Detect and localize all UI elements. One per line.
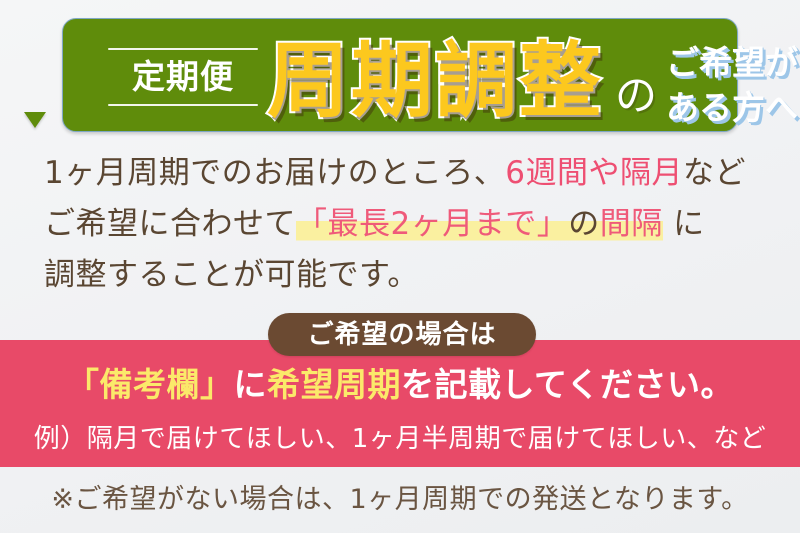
body-line-1-part-2: や bbox=[588, 155, 620, 191]
request-case-badge: ご希望の場合は bbox=[268, 313, 536, 356]
body-line-1-highlight-2: 隔月 bbox=[620, 155, 683, 191]
promo-banner: 定期便 周期調整 の ご希望が ある方へ 1ヶ月周期でのお届けのところ、6週間や… bbox=[0, 0, 800, 533]
band-main-part-2: を記載してください。 bbox=[401, 365, 734, 404]
body-line-2-highlight-1: 「最長2ヶ月まで」 bbox=[296, 206, 568, 242]
body-line-1-part-3: など bbox=[683, 155, 746, 191]
request-case-badge-label: ご希望の場合は bbox=[307, 320, 496, 350]
body-line-2: ご希望に合わせて「最長2ヶ月まで」の間隔 に bbox=[44, 199, 774, 250]
band-main-part-1: に bbox=[233, 365, 267, 404]
rule-top-decoration bbox=[108, 48, 258, 50]
header-section: 定期便 周期調整 の ご希望が ある方へ bbox=[62, 18, 738, 132]
body-line-2-highlight-2: 間隔 bbox=[600, 206, 663, 242]
band-main-line: 「備考欄」に希望周期を記載してください。 bbox=[0, 363, 800, 407]
band-example-line: 例）隔月で届けてほしい、1ヶ月半周期で届けてほしい、など bbox=[0, 421, 800, 457]
body-line-2-part-3: に bbox=[663, 206, 705, 242]
body-line-1-part-1: 1ヶ月周期でのお届けのところ、 bbox=[44, 155, 505, 191]
subscription-label-block: 定期便 bbox=[108, 48, 258, 106]
body-line-2-part-1: ご希望に合わせて bbox=[44, 206, 296, 242]
speech-bubble-tail-icon bbox=[24, 112, 46, 128]
band-main-highlight-2: 希望周期 bbox=[267, 365, 401, 404]
body-line-2-part-2: の bbox=[568, 206, 600, 242]
body-line-3: 調整することが可能です。 bbox=[44, 250, 774, 301]
body-paragraph: 1ヶ月周期でのお届けのところ、6週間や隔月など ご希望に合わせて「最長2ヶ月まで… bbox=[44, 148, 774, 301]
header-wish-block: ご希望が ある方へ bbox=[666, 40, 798, 130]
header-title: 周期調整 bbox=[267, 36, 603, 128]
header-connector-particle: の bbox=[615, 73, 657, 119]
band-main-highlight-1: 「備考欄」 bbox=[66, 365, 234, 404]
body-line-1: 1ヶ月周期でのお届けのところ、6週間や隔月など bbox=[44, 148, 774, 199]
body-line-1-highlight-1: 6週間 bbox=[505, 155, 588, 191]
rule-bottom-decoration bbox=[108, 104, 258, 106]
footer-note: ※ご希望がない場合は、1ヶ月周期での発送となります。 bbox=[0, 480, 800, 520]
header-wish-line-1: ご希望が bbox=[666, 40, 798, 85]
subscription-label: 定期便 bbox=[108, 57, 258, 97]
header-wish-line-2: ある方へ bbox=[666, 85, 798, 130]
